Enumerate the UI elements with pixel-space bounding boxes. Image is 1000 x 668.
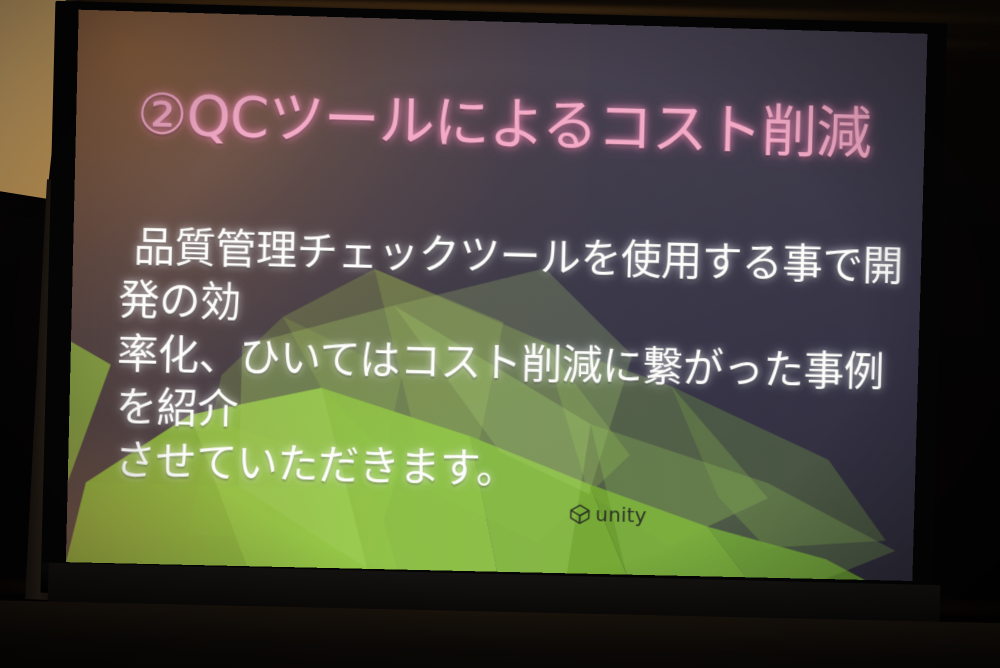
unity-logo: unity xyxy=(568,502,647,528)
slide-body: 品質管理チェックツールを使用する事で開発の効 率化、ひいてはコスト削減に繋がった… xyxy=(114,220,920,506)
unity-cube-icon xyxy=(568,502,592,525)
photo-of-projected-slide: n. xyxy=(0,0,1000,668)
unity-wordmark: unity xyxy=(595,502,647,527)
slide-body-line: 率化、ひいてはコスト削減に繋がった事例を紹介 xyxy=(115,327,917,453)
projection-screen: ②QCツールによるコスト削減 品質管理チェックツールを使用する事で開発の効 率化… xyxy=(41,1,947,601)
slide-body-line: 品質管理チェックツールを使用する事で開発の効 xyxy=(118,220,920,347)
slide-surface: ②QCツールによるコスト削減 品質管理チェックツールを使用する事で開発の効 率化… xyxy=(66,10,928,581)
